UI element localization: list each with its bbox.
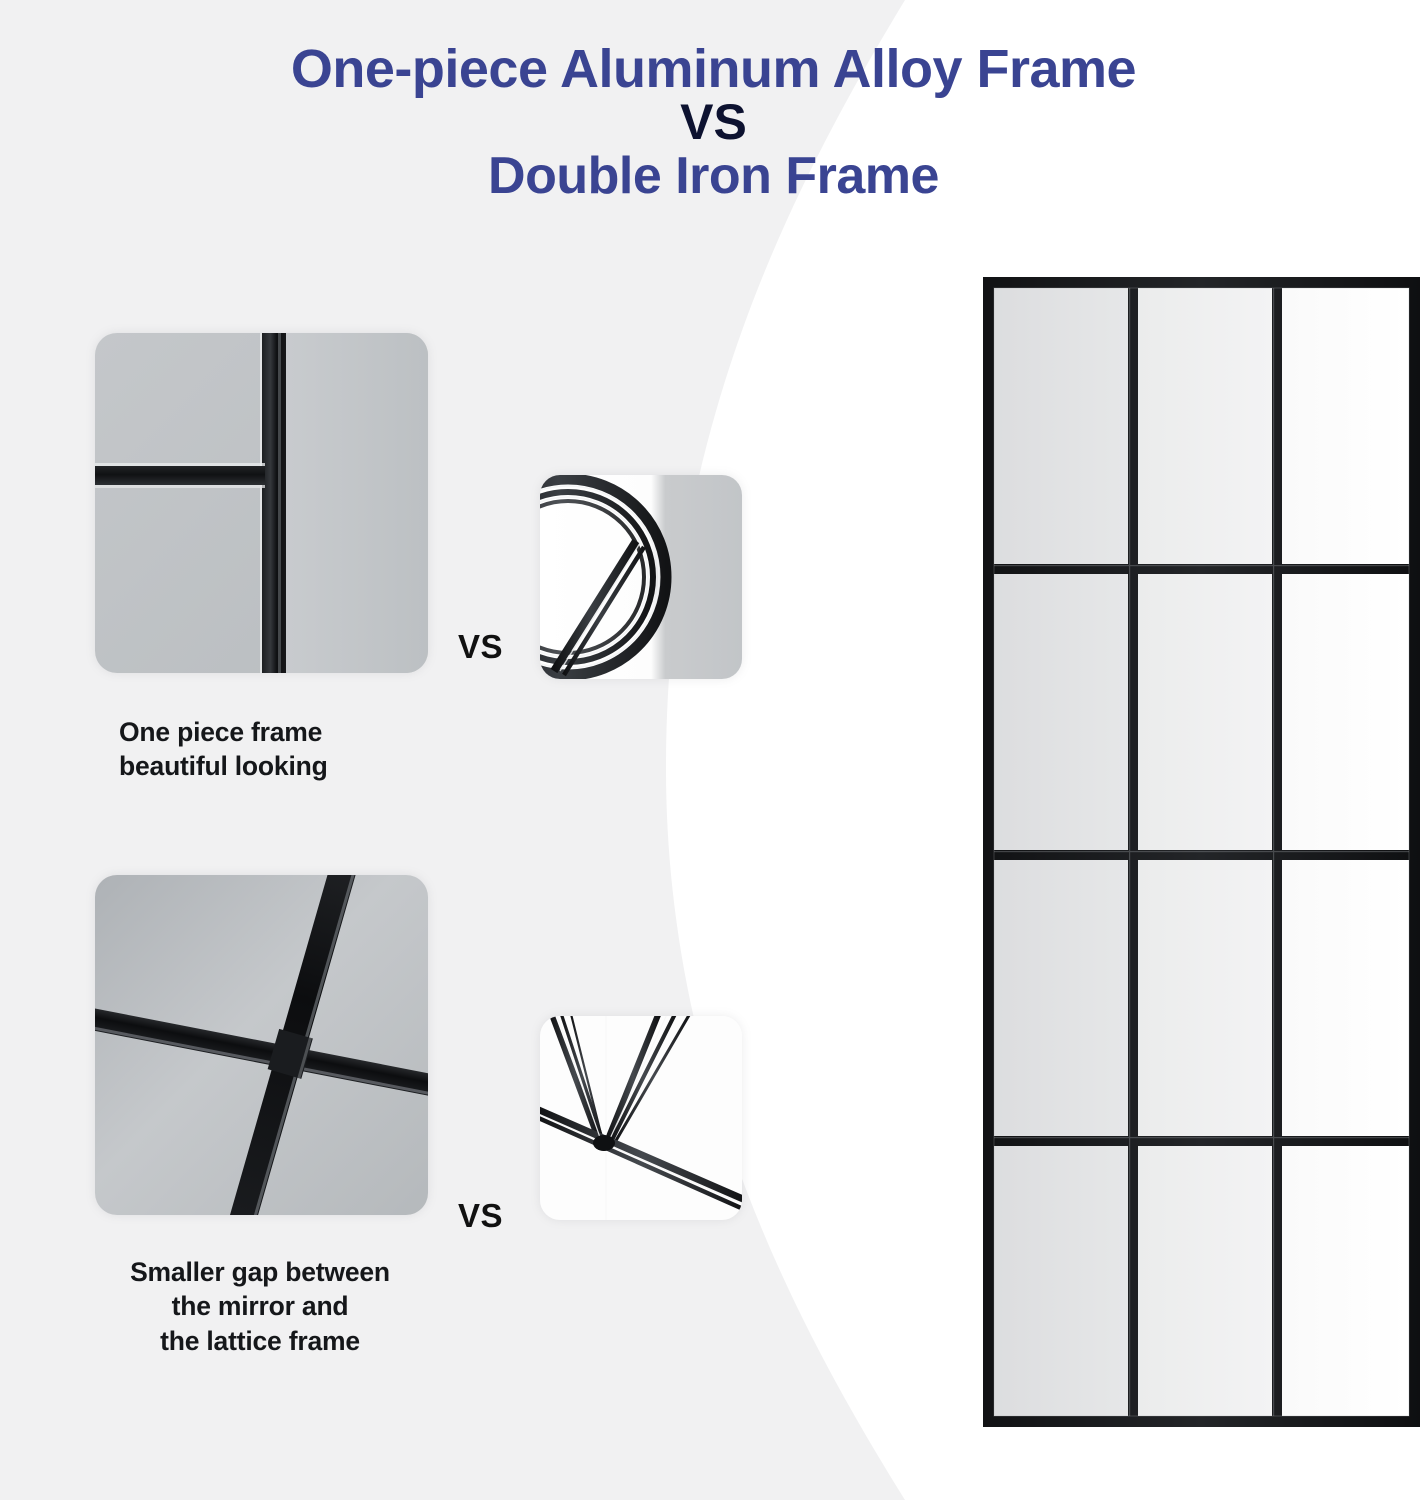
- headline-vs: VS: [0, 97, 1427, 148]
- headline-line-1: One-piece Aluminum Alloy Frame: [0, 42, 1427, 97]
- one-piece-aluminum-frame-joint-photo: [95, 333, 428, 673]
- cross-joint-illustration: [95, 875, 428, 1215]
- double-iron-lattice-cluster-photo: [540, 1016, 742, 1220]
- aluminum-lattice-cross-joint-photo: [95, 875, 428, 1215]
- round-iron-frame-illustration: [540, 475, 742, 679]
- headline-line-2: Double Iron Frame: [0, 150, 1427, 203]
- feature-caption-one-piece-frame: One piece frame beautiful looking: [119, 715, 459, 784]
- mirror-illustration: [983, 277, 1420, 1427]
- frame-joint-illustration: [95, 333, 428, 673]
- lattice-cluster-illustration: [540, 1016, 742, 1220]
- double-iron-round-frame-photo: [540, 475, 742, 679]
- windowpane-full-length-mirror: [983, 277, 1420, 1427]
- infographic-canvas: One-piece Aluminum Alloy Frame VS Double…: [0, 0, 1427, 1500]
- headline-block: One-piece Aluminum Alloy Frame VS Double…: [0, 42, 1427, 203]
- vs-label-row-2: VS: [458, 1197, 503, 1235]
- feature-caption-smaller-gap: Smaller gap between the mirror and the l…: [60, 1255, 460, 1358]
- vs-label-row-1: VS: [458, 628, 503, 666]
